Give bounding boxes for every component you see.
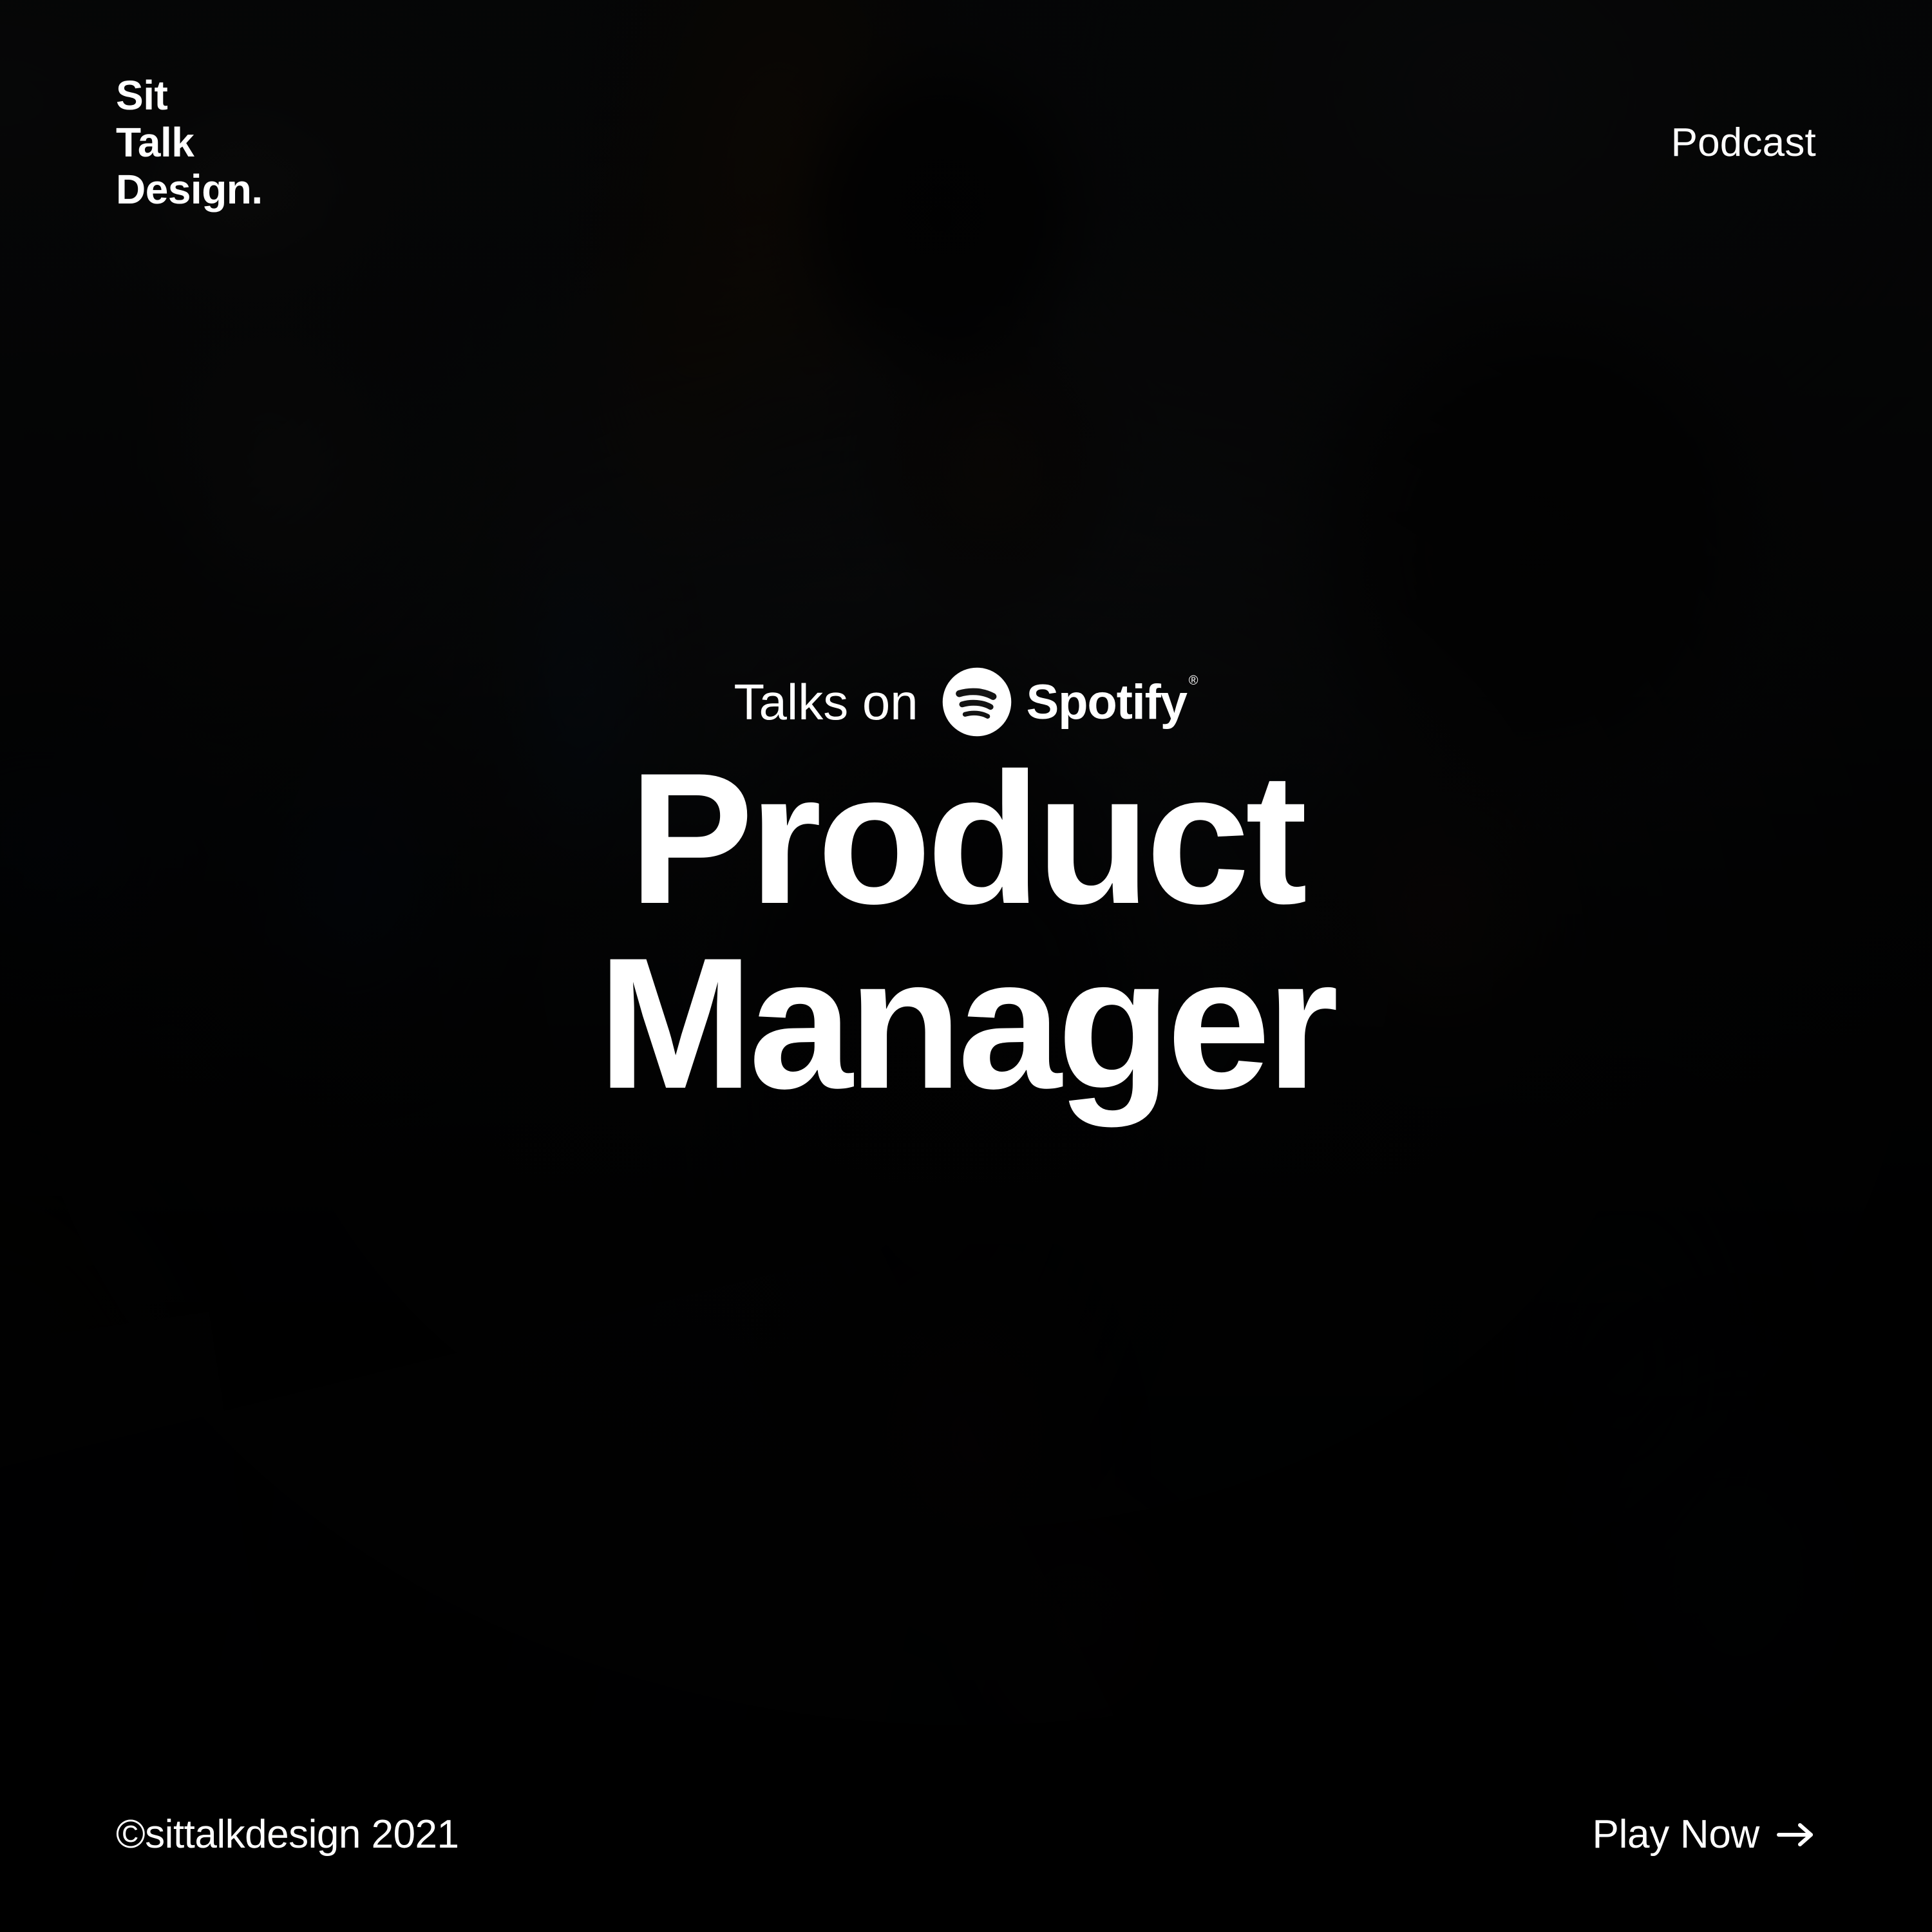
site-footer: ©sittalkdesign 2021 Play Now bbox=[0, 1700, 1932, 1932]
hero-eyebrow-text: Talks on bbox=[734, 673, 918, 732]
play-now-button[interactable]: Play Now bbox=[1593, 1812, 1816, 1857]
brand-logo-line-3: Design. bbox=[116, 166, 263, 213]
spotify-logo-icon bbox=[942, 667, 1012, 737]
play-now-label: Play Now bbox=[1593, 1812, 1759, 1857]
hero-banner: Sit Talk Design. Podcast Talks on bbox=[0, 0, 1932, 1932]
spotify-lockup[interactable]: Spotify® bbox=[942, 667, 1198, 737]
brand-logo-line-2: Talk bbox=[116, 119, 263, 166]
arrow-right-icon bbox=[1776, 1821, 1816, 1848]
site-header: Sit Talk Design. Podcast bbox=[0, 0, 1932, 270]
copyright-text: ©sittalkdesign 2021 bbox=[116, 1812, 459, 1857]
spotify-registered-mark: ® bbox=[1189, 674, 1198, 688]
page-title-line-2: Manager bbox=[598, 931, 1334, 1116]
nav-item-podcast[interactable]: Podcast bbox=[1671, 120, 1816, 166]
page-title-line-1: Product bbox=[598, 746, 1334, 931]
hero-content: Sit Talk Design. Podcast Talks on bbox=[0, 0, 1932, 1932]
brand-logo[interactable]: Sit Talk Design. bbox=[116, 72, 263, 213]
hero-eyebrow: Talks on Spotify® bbox=[734, 667, 1198, 737]
brand-logo-line-1: Sit bbox=[116, 72, 263, 119]
spotify-wordmark-text: Spotify bbox=[1027, 675, 1187, 730]
hero-center-stack: Talks on Spotify® Product Manager bbox=[0, 667, 1932, 1116]
spotify-wordmark: Spotify® bbox=[1027, 674, 1198, 730]
page-title: Product Manager bbox=[598, 746, 1334, 1116]
